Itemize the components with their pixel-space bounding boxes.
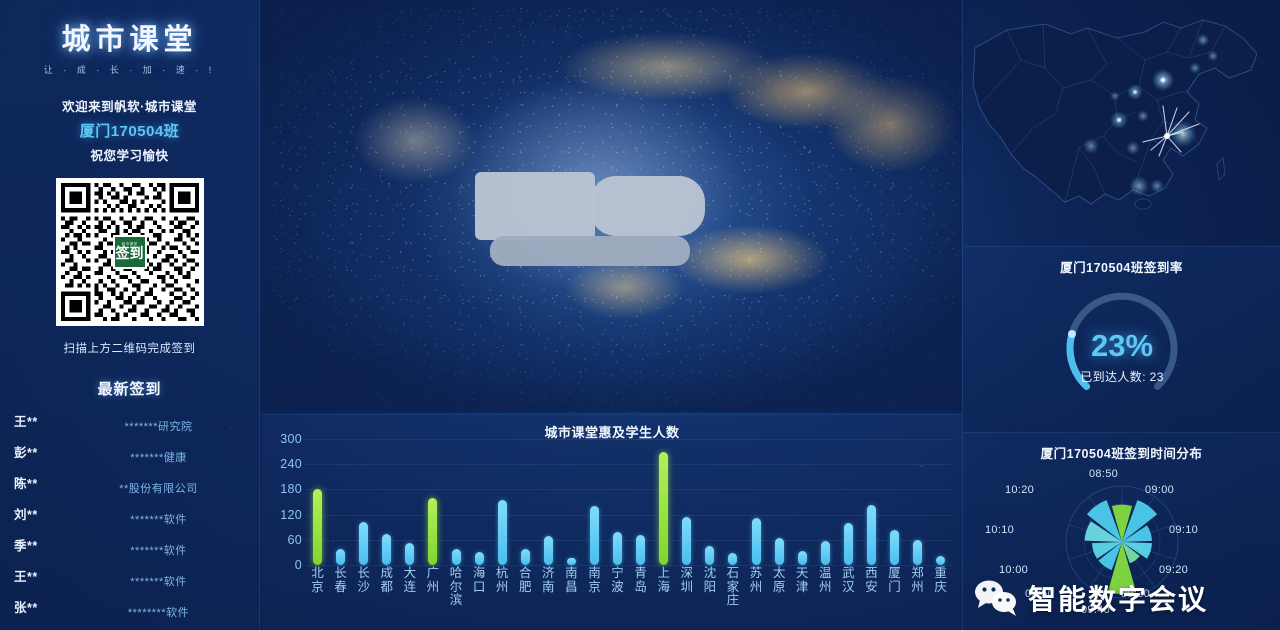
bar[interactable] (775, 538, 784, 565)
x-label-column: 合肥 (514, 567, 537, 608)
signin-org: **股份有限公司 (64, 480, 253, 496)
x-label-column: 长沙 (352, 567, 375, 608)
signin-name: 季** (6, 535, 64, 554)
bar[interactable] (705, 546, 714, 565)
bar[interactable] (567, 558, 576, 565)
welcome-block: 欢迎来到帆软·城市课堂 厦门170504班 祝您学习愉快 (0, 96, 259, 164)
x-label-column: 重庆 (929, 567, 952, 608)
bar-column[interactable] (352, 439, 375, 565)
signin-name: 王** (6, 566, 64, 585)
qr-center-label: 签到 (116, 246, 144, 261)
bar-chart-plot-area: 060120180240300 北京长春长沙成都大连广州哈尔滨海口杭州合肥济南南… (262, 439, 962, 630)
signin-org: *******软件 (64, 511, 253, 527)
bar[interactable] (590, 506, 599, 565)
bar[interactable] (544, 536, 553, 565)
bar-chart-title: 城市课堂惠及学生人数 (262, 415, 962, 441)
bar-column[interactable] (814, 439, 837, 565)
y-axis-ticks: 060120180240300 (268, 439, 302, 565)
bar[interactable] (890, 530, 899, 565)
list-item: 季** *******软件 (6, 529, 253, 560)
x-label-column: 南京 (583, 567, 606, 608)
bar[interactable] (798, 551, 807, 565)
x-axis-label: 长沙 (357, 567, 370, 608)
x-label-column: 哈尔滨 (444, 567, 467, 608)
bar-column[interactable] (329, 439, 352, 565)
rose-label-0940: 09:40 (1081, 604, 1110, 616)
logo-tagline: 让 · 成 · 长 · 加 · 速 · ! (0, 63, 259, 76)
signin-rate-gauge: 23% 已到达人数: 23 (963, 276, 1280, 426)
signin-qr-code[interactable]: 城市课堂 签到 (56, 178, 204, 326)
x-axis-label: 温州 (819, 567, 832, 608)
bar[interactable] (613, 532, 622, 565)
redacted-overlay (590, 176, 705, 236)
bar[interactable] (336, 549, 345, 565)
x-label-column: 杭州 (491, 567, 514, 608)
x-axis-label: 大连 (403, 567, 416, 608)
list-item: 陈** **股份有限公司 (6, 467, 253, 498)
rose-label-0850: 08:50 (1089, 468, 1118, 480)
welcome-greeting: 欢迎来到帆软·城市课堂 (0, 96, 259, 115)
bar[interactable] (452, 549, 461, 565)
x-axis-label: 海口 (473, 567, 486, 608)
bar[interactable] (382, 534, 391, 566)
rose-label-1020: 10:20 (1005, 484, 1034, 496)
bar-column[interactable] (560, 439, 583, 565)
y-axis-tick: 120 (280, 508, 302, 522)
signin-rate-panel: 厦门170504班签到率 23% 已到达人数: 23 (962, 246, 1280, 432)
x-axis-label: 济南 (542, 567, 555, 608)
bar[interactable] (936, 556, 945, 565)
bar-column[interactable] (444, 439, 467, 565)
bar[interactable] (682, 517, 691, 565)
bar[interactable] (913, 540, 922, 565)
x-label-column: 济南 (537, 567, 560, 608)
y-axis-tick: 240 (280, 457, 302, 471)
signin-time-rose-chart: 08:50 09:00 09:10 09:20 09:30 09:40 09:5… (963, 462, 1280, 630)
x-label-column: 石家庄 (721, 567, 744, 608)
x-axis-label: 成都 (380, 567, 393, 608)
bar-series (306, 439, 952, 565)
x-label-column: 宁波 (606, 567, 629, 608)
x-label-column: 南昌 (560, 567, 583, 608)
bar-column[interactable] (421, 439, 444, 565)
x-axis-label: 杭州 (496, 567, 509, 608)
x-label-column: 天津 (791, 567, 814, 608)
bar-column[interactable] (583, 439, 606, 565)
bar[interactable] (728, 553, 737, 565)
x-label-column: 上海 (652, 567, 675, 608)
x-axis-label: 太原 (773, 567, 786, 608)
bar-column[interactable] (860, 439, 883, 565)
bar-column[interactable] (491, 439, 514, 565)
x-label-column: 海口 (468, 567, 491, 608)
x-label-column: 沈阳 (698, 567, 721, 608)
gauge-title: 厦门170504班签到率 (963, 247, 1280, 276)
x-label-column: 太原 (768, 567, 791, 608)
x-axis-label: 石家庄 (726, 567, 739, 608)
grid-line (306, 565, 952, 566)
bar-column[interactable] (629, 439, 652, 565)
y-axis-tick: 300 (280, 432, 302, 446)
bar[interactable] (659, 452, 668, 565)
welcome-wish: 祝您学习愉快 (0, 145, 259, 164)
bar[interactable] (752, 518, 761, 565)
gauge-subtitle: 已到达人数: 23 (1080, 368, 1164, 385)
x-axis-label: 苏州 (750, 567, 763, 608)
bar-column[interactable] (306, 439, 329, 565)
x-label-column: 青岛 (629, 567, 652, 608)
bar[interactable] (498, 500, 507, 565)
x-axis-label: 郑州 (911, 567, 924, 608)
rose-label-1010: 10:10 (985, 524, 1014, 536)
brand-logo: 城市课堂 让 · 成 · 长 · 加 · 速 · ! (0, 0, 259, 76)
particle-cloud-visualization (260, 0, 962, 412)
signin-org: *******研究院 (64, 418, 253, 434)
bar-column[interactable] (606, 439, 629, 565)
x-axis-label: 厦门 (888, 567, 901, 608)
list-item: 张** ********软件 (6, 591, 253, 622)
rose-label-0920: 09:20 (1159, 564, 1188, 576)
latest-signin-title: 最新签到 (0, 378, 259, 399)
bar-column[interactable] (837, 439, 860, 565)
x-axis-label: 北京 (311, 567, 324, 608)
rose-label-0950: 09:50 (1025, 588, 1054, 600)
signin-org: *******软件 (64, 542, 253, 558)
right-column: 厦门170504班签到率 23% 已到达人数: 23 厦门170504班签到时间… (962, 0, 1280, 630)
bar[interactable] (844, 523, 853, 565)
rose-label-0930: 09:30 (1121, 588, 1150, 600)
rose-label-0910: 09:10 (1169, 524, 1198, 536)
x-axis-label: 南京 (588, 567, 601, 608)
rose-label-0900: 09:00 (1145, 484, 1174, 496)
bar-column[interactable] (514, 439, 537, 565)
x-label-column: 郑州 (906, 567, 929, 608)
list-item: 王** *******研究院 (6, 405, 253, 436)
signin-time-distribution-panel: 厦门170504班签到时间分布 08:50 09:00 09:10 09:20 … (962, 432, 1280, 630)
list-item: 王** *******软件 (6, 560, 253, 591)
x-label-column: 厦门 (883, 567, 906, 608)
china-map (967, 8, 1277, 240)
y-axis-tick: 180 (280, 482, 302, 496)
x-label-column: 苏州 (744, 567, 767, 608)
x-label-column: 武汉 (837, 567, 860, 608)
signin-name: 彭** (6, 442, 64, 461)
x-axis-label: 武汉 (842, 567, 855, 608)
bar-column[interactable] (468, 439, 491, 565)
x-label-column: 大连 (398, 567, 421, 608)
x-axis-label: 深圳 (680, 567, 693, 608)
bar-column[interactable] (398, 439, 421, 565)
list-item: 张** *******服务 (6, 622, 253, 630)
x-axis-label: 宁波 (611, 567, 624, 608)
qr-instruction-text: 扫描上方二维码完成签到 (0, 340, 259, 356)
bar-column[interactable] (375, 439, 398, 565)
bar[interactable] (521, 549, 530, 565)
bar-column[interactable] (791, 439, 814, 565)
y-axis-tick: 0 (295, 558, 302, 572)
x-axis-label: 合肥 (519, 567, 532, 608)
left-sidebar: 城市课堂 让 · 成 · 长 · 加 · 速 · ! 欢迎来到帆软·城市课堂 厦… (0, 0, 260, 630)
x-label-column: 长春 (329, 567, 352, 608)
signin-name: 刘** (6, 504, 64, 523)
bar-column[interactable] (906, 439, 929, 565)
bar[interactable] (475, 552, 484, 565)
x-axis-label: 上海 (657, 567, 670, 608)
bar-column[interactable] (537, 439, 560, 565)
x-label-column: 温州 (814, 567, 837, 608)
y-axis-tick: 60 (287, 533, 302, 547)
signin-name: 陈** (6, 473, 64, 492)
x-axis-label: 沈阳 (703, 567, 716, 608)
redacted-overlay (475, 172, 595, 240)
x-axis-label: 西安 (865, 567, 878, 608)
bar-column[interactable] (675, 439, 698, 565)
gauge-percent-value: 23% (1091, 328, 1153, 364)
list-item: 彭** *******健康 (6, 436, 253, 467)
signin-name: 王** (6, 411, 64, 430)
rose-chart-title: 厦门170504班签到时间分布 (963, 433, 1280, 462)
dashboard-root: 城市课堂 让 · 成 · 长 · 加 · 速 · ! 欢迎来到帆软·城市课堂 厦… (0, 0, 1280, 630)
bar[interactable] (313, 489, 322, 565)
bar-column[interactable] (698, 439, 721, 565)
bar-column[interactable] (652, 439, 675, 565)
rose-label-1000: 10:00 (999, 564, 1028, 576)
bar[interactable] (359, 522, 368, 565)
logo-title: 城市课堂 (0, 16, 259, 58)
china-map-panel (962, 0, 1280, 246)
x-axis-label: 天津 (796, 567, 809, 608)
latest-signin-list: 王** *******研究院 彭** *******健康 陈** **股份有限公… (0, 405, 259, 630)
x-label-column: 成都 (375, 567, 398, 608)
bar[interactable] (405, 543, 414, 565)
x-axis-label: 长春 (334, 567, 347, 608)
bar[interactable] (867, 505, 876, 565)
student-count-bar-chart: 城市课堂惠及学生人数 060120180240300 北京长春长沙成都大连广州哈… (262, 414, 962, 630)
x-axis-label: 广州 (426, 567, 439, 608)
bar[interactable] (636, 535, 645, 565)
bar-column[interactable] (744, 439, 767, 565)
x-axis-label: 青岛 (634, 567, 647, 608)
qr-center-logo: 城市课堂 签到 (113, 235, 147, 269)
x-axis-labels: 北京长春长沙成都大连广州哈尔滨海口杭州合肥济南南昌南京宁波青岛上海深圳沈阳石家庄… (306, 567, 952, 608)
bar-column[interactable] (929, 439, 952, 565)
class-name-label: 厦门170504班 (0, 120, 259, 141)
x-label-column: 广州 (421, 567, 444, 608)
x-axis-label: 哈尔滨 (450, 567, 463, 608)
list-item: 刘** *******软件 (6, 498, 253, 529)
x-label-column: 西安 (860, 567, 883, 608)
bar[interactable] (428, 498, 437, 565)
signin-org: *******健康 (64, 449, 253, 465)
signin-org: *******软件 (64, 573, 253, 589)
bar-column[interactable] (721, 439, 744, 565)
signin-name: 张** (6, 597, 64, 616)
x-axis-label: 重庆 (934, 567, 947, 608)
x-label-column: 北京 (306, 567, 329, 608)
signin-org: ********软件 (64, 604, 253, 620)
bar-column[interactable] (883, 439, 906, 565)
redacted-overlay (490, 236, 690, 266)
x-label-column: 深圳 (675, 567, 698, 608)
bar-column[interactable] (768, 439, 791, 565)
x-axis-label: 南昌 (565, 567, 578, 608)
bar[interactable] (821, 541, 830, 565)
